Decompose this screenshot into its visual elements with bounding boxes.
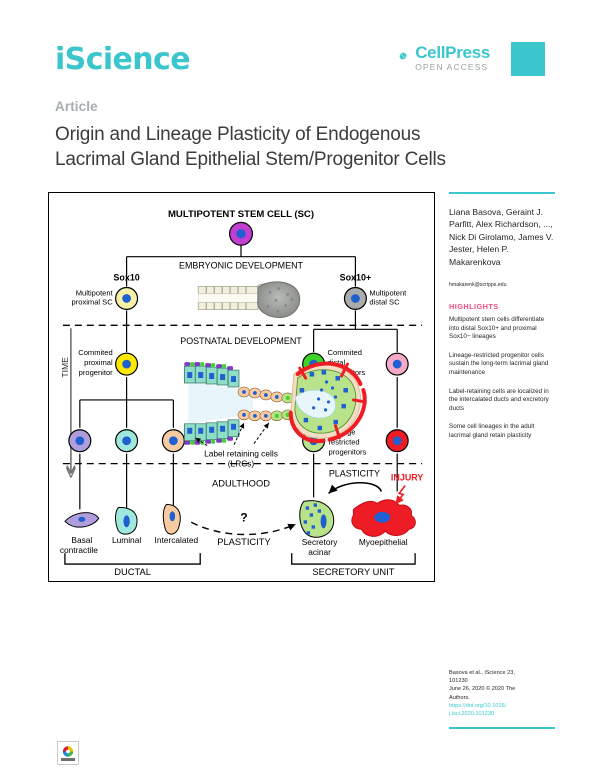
plasticity-arrow-upper xyxy=(329,483,382,494)
correspondence-email[interactable]: hmakarenk@scripps.edu xyxy=(449,281,555,289)
group-ductal-label: DUCTAL xyxy=(114,567,151,577)
lineage-diagram: TIME MULTIPOTENT STEM CELL (SC) EMBRYONI… xyxy=(49,193,434,581)
cell-multipotent-distal-sc xyxy=(344,288,366,310)
citation-line-3: June 26, 2020 © 2020 The xyxy=(449,685,555,693)
time-axis-label: TIME xyxy=(60,357,70,378)
highlights-heading: HIGHLIGHTS xyxy=(449,302,555,311)
figure-top-label: MULTIPOTENT STEM CELL (SC) xyxy=(168,209,314,220)
title-line-2: Lacrimal Gland Epithelial Stem/Progenito… xyxy=(55,149,446,170)
group-secretory-label: SECRETORY UNIT xyxy=(312,567,394,577)
cellpress-wordmark: CellPress xyxy=(415,44,490,62)
basal-label-line1: Basal xyxy=(71,535,92,545)
basal-label-line2: contractile xyxy=(60,545,98,555)
embryonic-bud-illustration xyxy=(198,282,299,318)
committed-proximal-label-3: progenitor xyxy=(79,368,113,377)
plasticity-question-mark: ? xyxy=(240,510,247,524)
time-axis: TIME xyxy=(60,328,75,477)
cellpress-logo: CellPress OPEN ACCESS xyxy=(395,44,490,73)
lrc-label-line2: (LRCs) xyxy=(228,459,255,469)
cell-secretory-acinar xyxy=(300,501,334,538)
committed-proximal-label-1: Commited xyxy=(78,348,112,357)
author-list: Liana Basova, Geraint J. Parfitt, Alex R… xyxy=(449,206,555,268)
masthead: iScience CellPress OPEN ACCESS xyxy=(55,38,545,82)
sox10-minus-label: Sox10 xyxy=(113,273,139,283)
crossmark-icon xyxy=(60,745,76,762)
page-title: Origin and Lineage Plasticity of Endogen… xyxy=(55,122,455,172)
myoepithelial-label: Myoepithelial xyxy=(359,537,408,547)
cell-multipotent-proximal-sc xyxy=(116,288,138,310)
cell-proximal-daughter-peach xyxy=(162,430,184,452)
side-rail: Liana Basova, Geraint J. Parfitt, Alex R… xyxy=(449,192,555,451)
highlight-item: Multipotent stem cells differentiate int… xyxy=(449,316,555,342)
duct-acinus-illustration xyxy=(184,362,365,445)
plasticity-label-lower: PLASTICITY xyxy=(217,537,271,547)
citation-line-2: 101230 xyxy=(449,677,555,685)
cell-proximal-daughter-purple xyxy=(69,430,91,452)
doi-link-line-2[interactable]: j.isci.2020.101230 xyxy=(449,710,555,718)
cell-lineage-restricted-red xyxy=(386,430,408,452)
graphical-abstract-figure: TIME MULTIPOTENT STEM CELL (SC) EMBRYONI… xyxy=(48,192,435,582)
title-line-1: Origin and Lineage Plasticity of Endogen… xyxy=(55,124,420,145)
cell-myoepithelial xyxy=(352,500,416,537)
doi-link-line-1[interactable]: https://doi.org/10.1016/ xyxy=(449,702,555,710)
cell-proximal-daughter-cyan xyxy=(116,430,138,452)
stage-label-adulthood: ADULTHOOD xyxy=(212,478,270,488)
citation-bottom-rule xyxy=(449,727,555,729)
cell-multipotent-stem xyxy=(230,222,253,245)
proximal-sc-label-line1: Multipotent xyxy=(76,288,114,297)
sox10-plus-label: Sox10+ xyxy=(340,273,372,283)
citation-block: Basova et al., iScience 23, 101230 June … xyxy=(449,669,555,729)
luminal-label: Luminal xyxy=(112,535,141,545)
distal-sc-label-line2: distal SC xyxy=(369,297,400,306)
crossmark-badge xyxy=(57,741,79,765)
lrc-label-line1: Label retaining cells xyxy=(204,449,278,459)
stage-label-postnatal: POSTNATAL DEVELOPMENT xyxy=(180,336,302,346)
lineage-restricted-label-3: progenitors xyxy=(329,448,367,457)
cell-committed-proximal-progenitor xyxy=(116,353,138,375)
secretory-label-line1: Secretory xyxy=(302,537,339,547)
open-access-label: OPEN ACCESS xyxy=(415,62,488,73)
title-block: Article Origin and Lineage Plasticity of… xyxy=(55,99,455,172)
committed-distal-label-1: Commited xyxy=(328,348,362,357)
distal-sc-label-line1: Multipotent xyxy=(369,288,407,297)
cell-basal-contractile xyxy=(65,513,99,528)
secretory-label-line2: acinar xyxy=(308,547,331,557)
citation-line-1: Basova et al., iScience 23, xyxy=(449,669,555,677)
rail-top-rule xyxy=(449,192,555,194)
stage-label-embryonic: EMBRYONIC DEVELOPMENT xyxy=(179,261,304,271)
cell-pink-progenitor xyxy=(386,353,408,375)
highlight-item: Some cell lineages in the adult lacrimal… xyxy=(449,423,555,440)
highlight-item: Label-retaining cells are localized in t… xyxy=(449,388,555,414)
plasticity-label-upper: PLASTICITY xyxy=(329,469,380,479)
injury-label: INJURY xyxy=(391,473,423,483)
proximal-sc-label-line2: proximal SC xyxy=(72,297,114,306)
cell-luminal xyxy=(116,507,138,534)
highlight-item: Lineage-restricted progenitor cells sust… xyxy=(449,352,555,378)
teal-accent-square xyxy=(511,42,545,76)
citation-line-4: Authors. xyxy=(449,694,555,702)
committed-proximal-label-2: proximal xyxy=(84,358,113,367)
article-type-label: Article xyxy=(55,99,455,114)
cell-intercalated xyxy=(163,504,180,534)
intercalated-label: Intercalated xyxy=(155,535,199,545)
journal-cover-page: iScience CellPress OPEN ACCESS Article O… xyxy=(0,0,600,779)
cellpress-link-icon xyxy=(395,48,411,64)
